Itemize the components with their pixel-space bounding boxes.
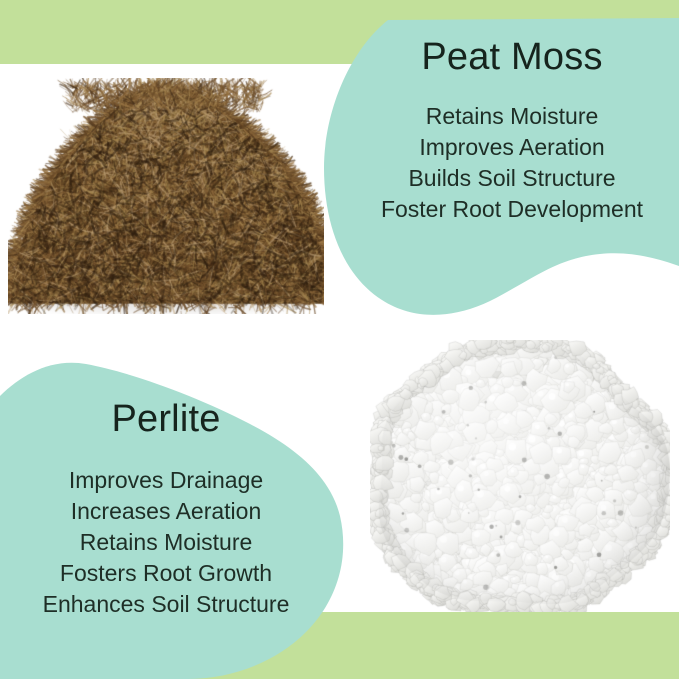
benefit-item: Builds Soil Structure bbox=[352, 163, 672, 194]
perlite-panel: Perlite Improves Drainage Increases Aera… bbox=[6, 398, 326, 620]
peat-moss-benefit-list: Retains Moisture Improves Aeration Build… bbox=[352, 101, 672, 225]
benefit-item: Retains Moisture bbox=[352, 101, 672, 132]
benefit-item: Improves Drainage bbox=[6, 465, 326, 496]
benefit-item: Enhances Soil Structure bbox=[6, 589, 326, 620]
peat-moss-title: Peat Moss bbox=[352, 36, 672, 79]
benefit-item: Increases Aeration bbox=[6, 496, 326, 527]
peat-moss-panel: Peat Moss Retains Moisture Improves Aera… bbox=[352, 36, 672, 225]
perlite-title: Perlite bbox=[6, 398, 326, 441]
perlite-benefit-list: Improves Drainage Increases Aeration Ret… bbox=[6, 465, 326, 620]
benefit-item: Foster Root Development bbox=[352, 194, 672, 225]
benefit-item: Improves Aeration bbox=[352, 132, 672, 163]
perlite-photo bbox=[370, 340, 670, 612]
benefit-item: Fosters Root Growth bbox=[6, 558, 326, 589]
bottom-green-band bbox=[0, 612, 679, 679]
peat-moss-photo bbox=[8, 78, 324, 314]
benefit-item: Retains Moisture bbox=[6, 527, 326, 558]
infographic-canvas: Peat Moss Retains Moisture Improves Aera… bbox=[0, 0, 679, 679]
